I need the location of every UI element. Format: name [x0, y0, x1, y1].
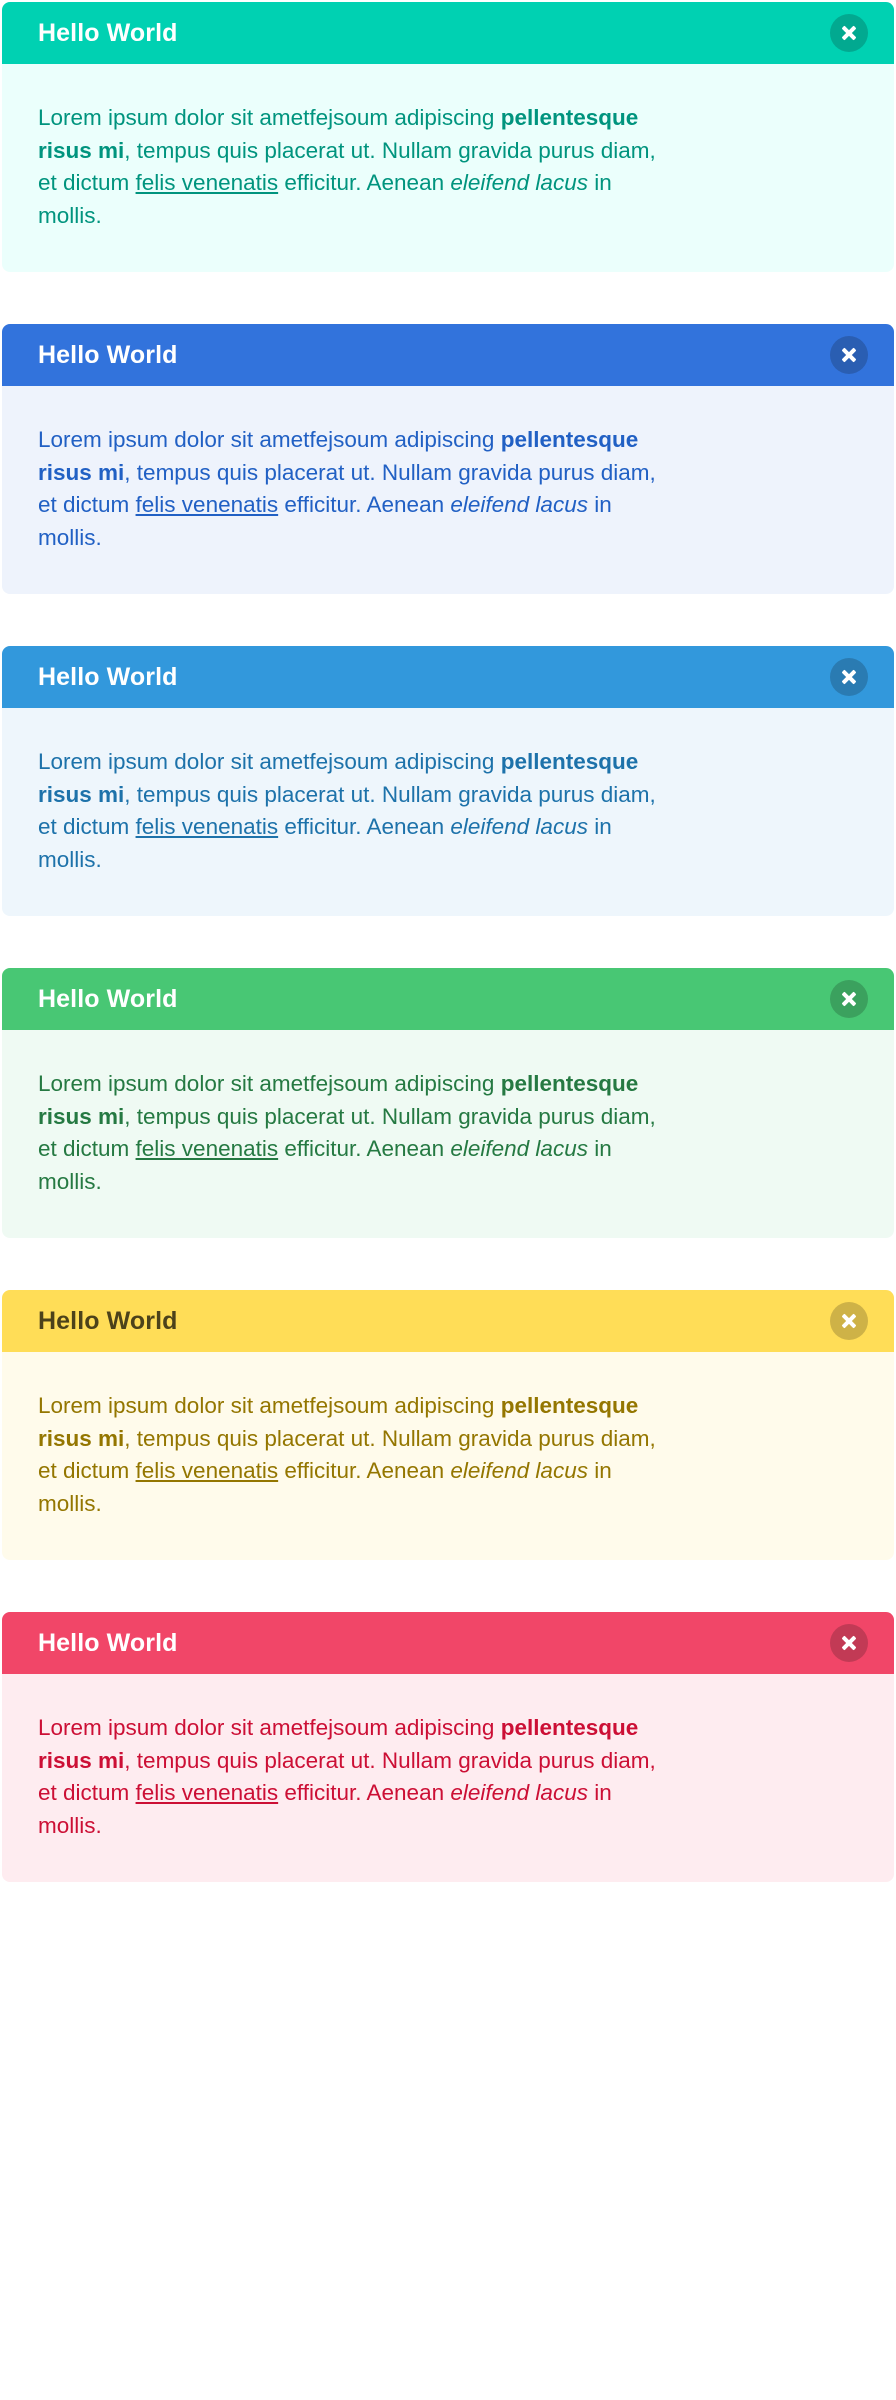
message-header: Hello World: [2, 324, 894, 386]
body-text-link[interactable]: felis venenatis: [136, 170, 279, 195]
message-title: Hello World: [38, 21, 178, 46]
body-text-italic: eleifend lacus: [450, 170, 588, 195]
message-paragraph: Lorem ipsum dolor sit ametfejsoum adipis…: [38, 1390, 678, 1520]
body-text-lead: Lorem ipsum dolor sit ametfejsoum adipis…: [38, 749, 501, 774]
message-title: Hello World: [38, 343, 178, 368]
message-body: Lorem ipsum dolor sit ametfejsoum adipis…: [2, 386, 894, 594]
message-card-turquoise: Hello WorldLorem ipsum dolor sit ametfej…: [2, 2, 894, 272]
message-body: Lorem ipsum dolor sit ametfejsoum adipis…: [2, 1674, 894, 1882]
message-paragraph: Lorem ipsum dolor sit ametfejsoum adipis…: [38, 102, 678, 232]
body-text-italic: eleifend lacus: [450, 492, 588, 517]
body-text-link[interactable]: felis venenatis: [136, 814, 279, 839]
body-text-italic: eleifend lacus: [450, 1780, 588, 1805]
message-header: Hello World: [2, 2, 894, 64]
message-card-stack: Hello WorldLorem ipsum dolor sit ametfej…: [0, 0, 896, 1882]
body-text-link[interactable]: felis venenatis: [136, 1136, 279, 1161]
message-paragraph: Lorem ipsum dolor sit ametfejsoum adipis…: [38, 746, 678, 876]
close-icon[interactable]: [830, 336, 868, 374]
body-text-after-link: efficitur. Aenean: [278, 492, 450, 517]
message-card-info: Hello WorldLorem ipsum dolor sit ametfej…: [2, 646, 894, 916]
message-header: Hello World: [2, 968, 894, 1030]
body-text-after-link: efficitur. Aenean: [278, 170, 450, 195]
body-text-link[interactable]: felis venenatis: [136, 492, 279, 517]
body-text-italic: eleifend lacus: [450, 814, 588, 839]
message-title: Hello World: [38, 1631, 178, 1656]
message-body: Lorem ipsum dolor sit ametfejsoum adipis…: [2, 1030, 894, 1238]
body-text-after-link: efficitur. Aenean: [278, 1780, 450, 1805]
message-paragraph: Lorem ipsum dolor sit ametfejsoum adipis…: [38, 1712, 678, 1842]
message-header: Hello World: [2, 1612, 894, 1674]
body-text-italic: eleifend lacus: [450, 1136, 588, 1161]
body-text-lead: Lorem ipsum dolor sit ametfejsoum adipis…: [38, 1393, 501, 1418]
body-text-after-link: efficitur. Aenean: [278, 814, 450, 839]
body-text-italic: eleifend lacus: [450, 1458, 588, 1483]
message-title: Hello World: [38, 665, 178, 690]
body-text-lead: Lorem ipsum dolor sit ametfejsoum adipis…: [38, 1715, 501, 1740]
message-card-danger: Hello WorldLorem ipsum dolor sit ametfej…: [2, 1612, 894, 1882]
body-text-lead: Lorem ipsum dolor sit ametfejsoum adipis…: [38, 105, 501, 130]
message-card-warning: Hello WorldLorem ipsum dolor sit ametfej…: [2, 1290, 894, 1560]
body-text-lead: Lorem ipsum dolor sit ametfejsoum adipis…: [38, 427, 501, 452]
close-icon[interactable]: [830, 980, 868, 1018]
message-header: Hello World: [2, 1290, 894, 1352]
message-paragraph: Lorem ipsum dolor sit ametfejsoum adipis…: [38, 424, 678, 554]
close-icon[interactable]: [830, 14, 868, 52]
body-text-after-link: efficitur. Aenean: [278, 1136, 450, 1161]
close-icon[interactable]: [830, 1624, 868, 1662]
message-header: Hello World: [2, 646, 894, 708]
message-title: Hello World: [38, 1309, 178, 1334]
message-body: Lorem ipsum dolor sit ametfejsoum adipis…: [2, 708, 894, 916]
message-card-success: Hello WorldLorem ipsum dolor sit ametfej…: [2, 968, 894, 1238]
body-text-link[interactable]: felis venenatis: [136, 1458, 279, 1483]
message-paragraph: Lorem ipsum dolor sit ametfejsoum adipis…: [38, 1068, 678, 1198]
close-icon[interactable]: [830, 658, 868, 696]
body-text-after-link: efficitur. Aenean: [278, 1458, 450, 1483]
message-card-primary: Hello WorldLorem ipsum dolor sit ametfej…: [2, 324, 894, 594]
body-text-lead: Lorem ipsum dolor sit ametfejsoum adipis…: [38, 1071, 501, 1096]
message-body: Lorem ipsum dolor sit ametfejsoum adipis…: [2, 64, 894, 272]
body-text-link[interactable]: felis venenatis: [136, 1780, 279, 1805]
message-body: Lorem ipsum dolor sit ametfejsoum adipis…: [2, 1352, 894, 1560]
close-icon[interactable]: [830, 1302, 868, 1340]
message-title: Hello World: [38, 987, 178, 1012]
